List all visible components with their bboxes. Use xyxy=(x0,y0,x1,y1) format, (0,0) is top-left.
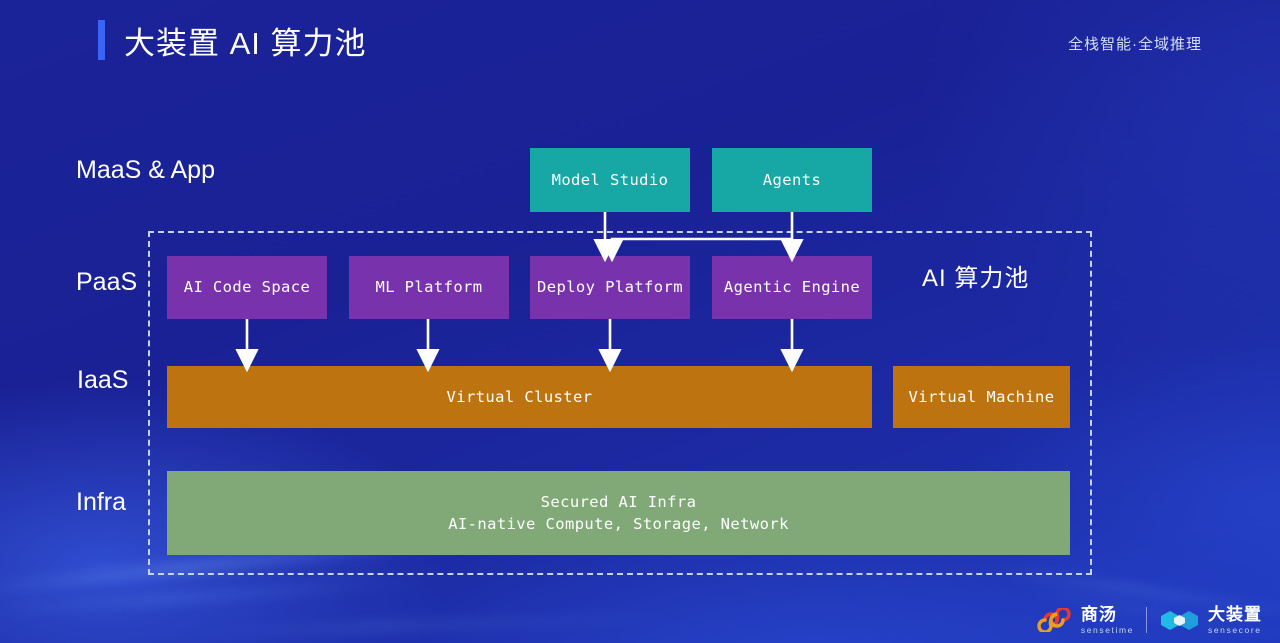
background-light-streak xyxy=(0,576,440,616)
node-secured-ai-infra-line2: AI-native Compute, Storage, Network xyxy=(448,513,789,535)
node-secured-ai-infra[interactable]: Secured AI Infra AI-native Compute, Stor… xyxy=(167,471,1070,555)
row-label-paas: PaaS xyxy=(76,268,137,297)
slide-canvas: 大装置 AI 算力池 全栈智能·全域推理 MaaS & App PaaS Iaa… xyxy=(0,0,1280,643)
brand-sensetime: 商汤 sensetime xyxy=(1034,606,1134,635)
sensecore-wordmark: 大装置 sensecore xyxy=(1208,606,1262,635)
sensetime-name-en: sensetime xyxy=(1081,625,1134,635)
sensetime-wordmark: 商汤 sensetime xyxy=(1081,606,1134,635)
node-virtual-machine[interactable]: Virtual Machine xyxy=(893,366,1070,428)
node-ml-platform[interactable]: ML Platform xyxy=(349,256,509,319)
brand-sensecore: 大装置 sensecore xyxy=(1159,606,1262,635)
sensecore-name-en: sensecore xyxy=(1208,625,1262,635)
node-virtual-cluster[interactable]: Virtual Cluster xyxy=(167,366,872,428)
footer-logos: 商汤 sensetime 大装置 sensecore xyxy=(1034,606,1262,635)
title-accent-bar xyxy=(98,20,105,60)
sensetime-name-cn: 商汤 xyxy=(1081,606,1134,623)
sensecore-hex-icon xyxy=(1159,608,1201,632)
node-agents[interactable]: Agents xyxy=(712,148,872,212)
node-ai-code-space[interactable]: AI Code Space xyxy=(167,256,327,319)
row-label-maas: MaaS & App xyxy=(76,156,215,185)
page-subtitle: 全栈智能·全域推理 xyxy=(1068,33,1202,54)
node-deploy-platform[interactable]: Deploy Platform xyxy=(530,256,690,319)
page-title: 大装置 AI 算力池 xyxy=(124,18,367,63)
background-light-streak xyxy=(180,611,700,638)
row-label-iaas: IaaS xyxy=(77,366,128,395)
node-agentic-engine[interactable]: Agentic Engine xyxy=(712,256,872,319)
footer-logo-divider xyxy=(1146,607,1147,633)
sensecore-name-cn: 大装置 xyxy=(1208,606,1262,623)
sensetime-infinity-icon xyxy=(1034,608,1074,632)
ai-compute-pool-label: AI 算力池 xyxy=(922,258,1029,293)
node-model-studio[interactable]: Model Studio xyxy=(530,148,690,212)
row-label-infra: Infra xyxy=(76,488,126,517)
node-secured-ai-infra-line1: Secured AI Infra xyxy=(541,491,697,513)
